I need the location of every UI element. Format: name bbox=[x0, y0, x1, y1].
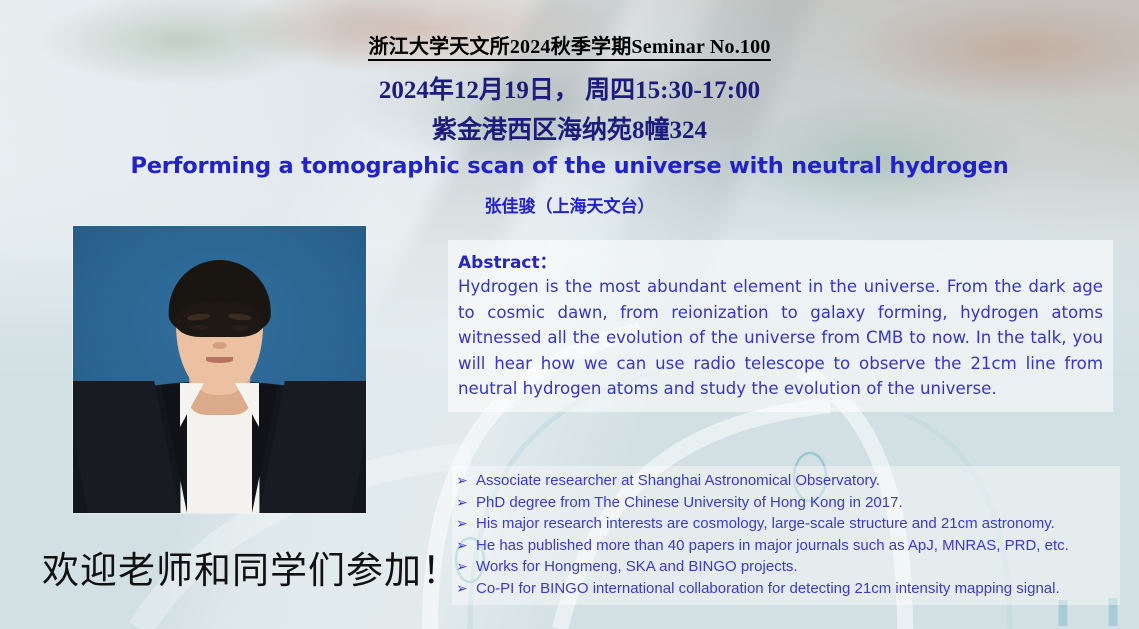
portrait-collar-left bbox=[180, 383, 204, 427]
welcome-message: 欢迎老师和同学们参加！ bbox=[42, 540, 460, 594]
talk-speaker: 张佳骏（上海天文台） bbox=[0, 192, 1139, 217]
list-item: ➢ Co-PI for BINGO international collabor… bbox=[456, 578, 1116, 600]
seminar-poster: 浙江大学天文所2024秋季学期Seminar No.100 2024年12月19… bbox=[0, 0, 1139, 629]
speaker-bio-panel: ➢ Associate researcher at Shanghai Astro… bbox=[452, 466, 1120, 605]
speaker-portrait-photo bbox=[73, 226, 366, 513]
list-item: ➢ Works for Hongmeng, SKA and BINGO proj… bbox=[456, 556, 1116, 578]
list-item-label: Works for Hongmeng, SKA and BINGO projec… bbox=[476, 556, 1116, 578]
list-item: ➢ Associate researcher at Shanghai Astro… bbox=[456, 470, 1116, 492]
abstract-panel: Abstract： Hydrogen is the most abundant … bbox=[448, 240, 1113, 412]
list-item-label: Co-PI for BINGO international collaborat… bbox=[476, 578, 1116, 600]
list-item-label: He has published more than 40 papers in … bbox=[476, 535, 1116, 557]
seminar-datetime: 2024年12月19日， 周四15:30-17:00 bbox=[0, 70, 1139, 106]
portrait-collar-right bbox=[235, 383, 259, 427]
seminar-series-heading-text: 浙江大学天文所2024秋季学期Seminar No.100 bbox=[368, 36, 770, 61]
list-item-label: His major research interests are cosmolo… bbox=[476, 513, 1116, 535]
list-item-label: PhD degree from The Chinese University o… bbox=[476, 492, 1116, 514]
list-item: ➢ He has published more than 40 papers i… bbox=[456, 535, 1116, 557]
arrow-bullet-icon: ➢ bbox=[456, 492, 476, 514]
list-item: ➢ His major research interests are cosmo… bbox=[456, 513, 1116, 535]
arrow-bullet-icon: ➢ bbox=[456, 470, 476, 492]
arrow-bullet-icon: ➢ bbox=[456, 513, 476, 535]
seminar-series-heading: 浙江大学天文所2024秋季学期Seminar No.100 bbox=[0, 30, 1139, 59]
abstract-body: Hydrogen is the most abundant element in… bbox=[458, 274, 1103, 402]
seminar-venue: 紫金港西区海纳苑8幢324 bbox=[0, 110, 1139, 146]
portrait-nose bbox=[212, 342, 227, 349]
list-item: ➢ PhD degree from The Chinese University… bbox=[456, 492, 1116, 514]
list-item-label: Associate researcher at Shanghai Astrono… bbox=[476, 470, 1116, 492]
talk-title: Performing a tomographic scan of the uni… bbox=[0, 153, 1139, 179]
abstract-label: Abstract： bbox=[458, 248, 1103, 273]
